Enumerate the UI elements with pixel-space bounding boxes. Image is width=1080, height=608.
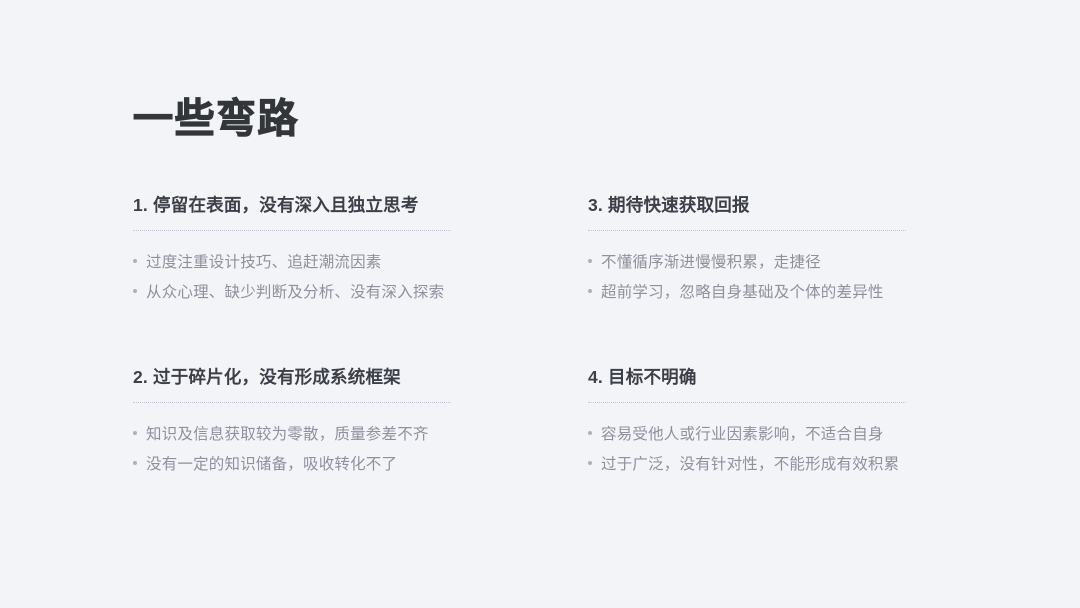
bullet-dot-icon [133,431,137,435]
list-item-label: 过度注重设计技巧、追赶潮流因素 [146,248,382,278]
list-item: 容易受他人或行业因素影响，不适合自身 [588,420,906,450]
slide-canvas: 一些弯路 1. 停留在表面，没有深入且独立思考 过度注重设计技巧、追赶潮流因素 … [0,0,1080,608]
page-title: 一些弯路 [133,96,299,142]
list-item: 超前学习，忽略自身基础及个体的差异性 [588,278,906,308]
list-item-label: 没有一定的知识储备，吸收转化不了 [146,450,397,480]
list-item-label: 从众心理、缺少判断及分析、没有深入探索 [146,278,444,308]
section-3-heading: 3. 期待快速获取回报 [588,193,906,217]
section-1-heading: 1. 停留在表面，没有深入且独立思考 [133,193,451,217]
section-3-divider [588,230,906,232]
list-item: 知识及信息获取较为零散，质量参差不齐 [133,420,451,450]
section-1-divider [133,230,451,232]
bullet-dot-icon [588,461,592,465]
section-2-heading: 2. 过于碎片化，没有形成系统框架 [133,365,451,389]
bullet-dot-icon [588,259,592,263]
list-item-label: 过于广泛，没有针对性，不能形成有效积累 [601,450,899,480]
section-1: 1. 停留在表面，没有深入且独立思考 过度注重设计技巧、追赶潮流因素 从众心理、… [133,193,451,308]
section-4-heading: 4. 目标不明确 [588,365,906,389]
list-item-label: 不懂循序渐进慢慢积累，走捷径 [601,248,821,278]
list-item: 从众心理、缺少判断及分析、没有深入探索 [133,278,451,308]
section-2: 2. 过于碎片化，没有形成系统框架 知识及信息获取较为零散，质量参差不齐 没有一… [133,365,451,480]
list-item-label: 知识及信息获取较为零散，质量参差不齐 [146,420,429,450]
sections-grid: 1. 停留在表面，没有深入且独立思考 过度注重设计技巧、追赶潮流因素 从众心理、… [133,193,953,480]
list-item: 过度注重设计技巧、追赶潮流因素 [133,248,451,278]
section-4-divider [588,402,906,404]
list-item: 没有一定的知识储备，吸收转化不了 [133,450,451,480]
section-3: 3. 期待快速获取回报 不懂循序渐进慢慢积累，走捷径 超前学习，忽略自身基础及个… [588,193,906,308]
section-2-divider [133,402,451,404]
list-item-label: 容易受他人或行业因素影响，不适合自身 [601,420,884,450]
list-item: 过于广泛，没有针对性，不能形成有效积累 [588,450,906,480]
list-item-label: 超前学习，忽略自身基础及个体的差异性 [601,278,884,308]
section-3-bullet-list: 不懂循序渐进慢慢积累，走捷径 超前学习，忽略自身基础及个体的差异性 [588,248,906,308]
bullet-dot-icon [588,431,592,435]
section-4-bullet-list: 容易受他人或行业因素影响，不适合自身 过于广泛，没有针对性，不能形成有效积累 [588,420,906,480]
bullet-dot-icon [133,289,137,293]
bullet-dot-icon [133,461,137,465]
section-2-bullet-list: 知识及信息获取较为零散，质量参差不齐 没有一定的知识储备，吸收转化不了 [133,420,451,480]
bullet-dot-icon [588,289,592,293]
section-1-bullet-list: 过度注重设计技巧、追赶潮流因素 从众心理、缺少判断及分析、没有深入探索 [133,248,451,308]
list-item: 不懂循序渐进慢慢积累，走捷径 [588,248,906,278]
bullet-dot-icon [133,259,137,263]
section-4: 4. 目标不明确 容易受他人或行业因素影响，不适合自身 过于广泛，没有针对性，不… [588,365,906,480]
